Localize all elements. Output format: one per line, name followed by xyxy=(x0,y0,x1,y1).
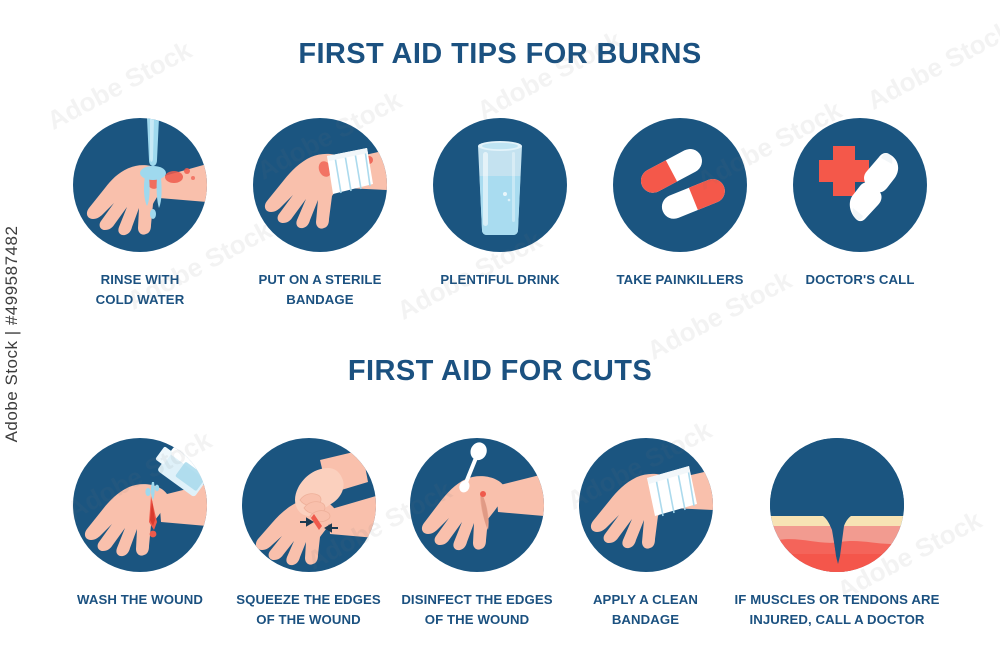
icon-circle-squeeze-the-edges xyxy=(242,438,376,572)
skin-cross-section-deep-cut-icon xyxy=(770,438,904,572)
icon-circle-rinse xyxy=(73,118,207,252)
page-title-burns: FIRST AID TIPS FOR BURNS xyxy=(0,38,1000,71)
icon-circle-plentiful-drink xyxy=(433,118,567,252)
step-label: DISINFECT THE EDGES OF THE WOUND xyxy=(401,590,552,631)
glass-of-water-icon xyxy=(433,118,567,252)
capsule-pills-icon xyxy=(613,118,747,252)
bottle-pouring-on-hand-icon xyxy=(73,438,207,572)
icon-circle-sterile-bandage xyxy=(253,118,387,252)
step-label: PUT ON A STERILE BANDAGE xyxy=(259,270,382,311)
step-rinse-with-cold-water[interactable]: RINSE WITH COLD WATER xyxy=(58,118,222,311)
step-plentiful-drink[interactable]: PLENTIFUL DRINK xyxy=(418,118,582,311)
steps-row-burns: RINSE WITH COLD WATER xyxy=(0,118,1000,311)
step-label: DOCTOR'S CALL xyxy=(806,270,915,290)
cotton-swab-on-wound-icon xyxy=(410,438,544,572)
step-squeeze-the-edges-of-the-wound[interactable]: SQUEEZE THE EDGES OF THE WOUND xyxy=(227,438,391,631)
phone-handset-with-cross-icon xyxy=(793,118,927,252)
two-hands-squeezing-wound-icon xyxy=(242,438,376,572)
infographic-canvas: FIRST AID TIPS FOR BURNS xyxy=(0,0,1000,667)
step-doctors-call[interactable]: DOCTOR'S CALL xyxy=(778,118,942,311)
steps-row-cuts: WASH THE WOUND xyxy=(0,438,1000,631)
step-label: IF MUSCLES OR TENDONS ARE INJURED, CALL … xyxy=(735,590,940,631)
icon-circle-apply-a-clean-bandage xyxy=(579,438,713,572)
bandaged-hand-icon xyxy=(579,438,713,572)
step-muscles-or-tendons-injured[interactable]: IF MUSCLES OR TENDONS ARE INJURED, CALL … xyxy=(732,438,942,631)
page-title-cuts: FIRST AID FOR CUTS xyxy=(0,355,1000,388)
step-put-on-a-sterile-bandage[interactable]: PUT ON A STERILE BANDAGE xyxy=(238,118,402,311)
step-apply-a-clean-bandage[interactable]: APPLY A CLEAN BANDAGE xyxy=(564,438,728,631)
icon-circle-wash-the-wound xyxy=(73,438,207,572)
icon-circle-deep-cut-cross-section xyxy=(770,438,904,572)
step-label: PLENTIFUL DRINK xyxy=(440,270,559,290)
icon-circle-doctors-call xyxy=(793,118,927,252)
step-label: RINSE WITH COLD WATER xyxy=(96,270,185,311)
icon-circle-disinfect-the-edges xyxy=(410,438,544,572)
adobe-stock-watermark: Adobe Stock | #499587482 xyxy=(2,225,22,442)
step-label: TAKE PAINKILLERS xyxy=(616,270,743,290)
step-take-painkillers[interactable]: TAKE PAINKILLERS xyxy=(598,118,762,311)
bandaged-hand-icon xyxy=(253,118,387,252)
icon-circle-take-painkillers xyxy=(613,118,747,252)
hand-under-running-water-icon xyxy=(73,118,207,252)
step-label: APPLY A CLEAN BANDAGE xyxy=(593,590,698,631)
step-label: SQUEEZE THE EDGES OF THE WOUND xyxy=(236,590,381,631)
step-disinfect-the-edges-of-the-wound[interactable]: DISINFECT THE EDGES OF THE WOUND xyxy=(395,438,559,631)
step-label: WASH THE WOUND xyxy=(77,590,203,610)
step-wash-the-wound[interactable]: WASH THE WOUND xyxy=(58,438,222,631)
